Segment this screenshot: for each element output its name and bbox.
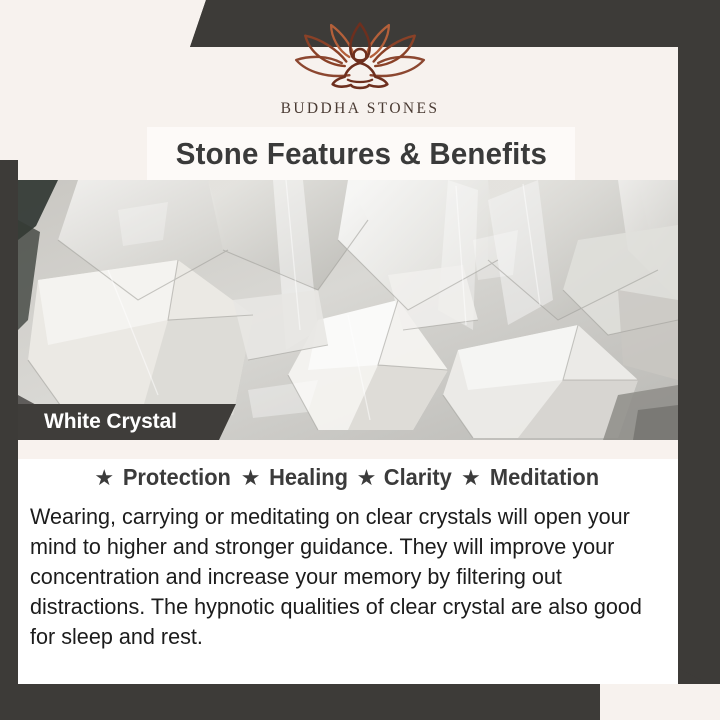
lotus-meditation-icon [284,22,436,94]
frame-bottom-bar [0,684,600,720]
content-top-strip [18,440,678,459]
benefit-label: Meditation [490,464,599,491]
benefit-label: Clarity [384,464,452,491]
benefit-label: Healing [269,464,348,491]
stone-photo [18,180,678,440]
benefit-item: ★ Clarity [357,464,454,491]
stone-name-label: White Crystal [18,410,177,434]
benefit-item: ★ Healing [241,464,350,491]
star-icon: ★ [94,467,114,489]
brand-name: BUDDHA STONES [281,100,440,118]
star-icon: ★ [357,467,377,489]
benefits-row: ★ Protection ★ Healing ★ Clarity ★ Medit… [18,464,678,491]
benefit-label: Protection [123,464,231,491]
page-title: Stone Features & Benefits [175,136,546,172]
content-panel: ★ Protection ★ Healing ★ Clarity ★ Medit… [18,440,678,684]
star-icon: ★ [461,467,481,489]
brand-header: BUDDHA STONES [0,0,720,128]
star-icon: ★ [241,467,261,489]
description-text: Wearing, carrying or meditating on clear… [30,502,644,652]
frame-bottom-right-cream [600,684,720,720]
stone-name-tag: White Crystal [18,404,236,440]
benefit-item: ★ Protection [94,464,233,491]
infographic-card: BUDDHA STONES Stone Features & Benefits [0,0,720,720]
title-banner: Stone Features & Benefits [147,127,575,180]
frame-left-bar [0,160,18,720]
benefit-item: ★ Meditation [461,464,602,491]
